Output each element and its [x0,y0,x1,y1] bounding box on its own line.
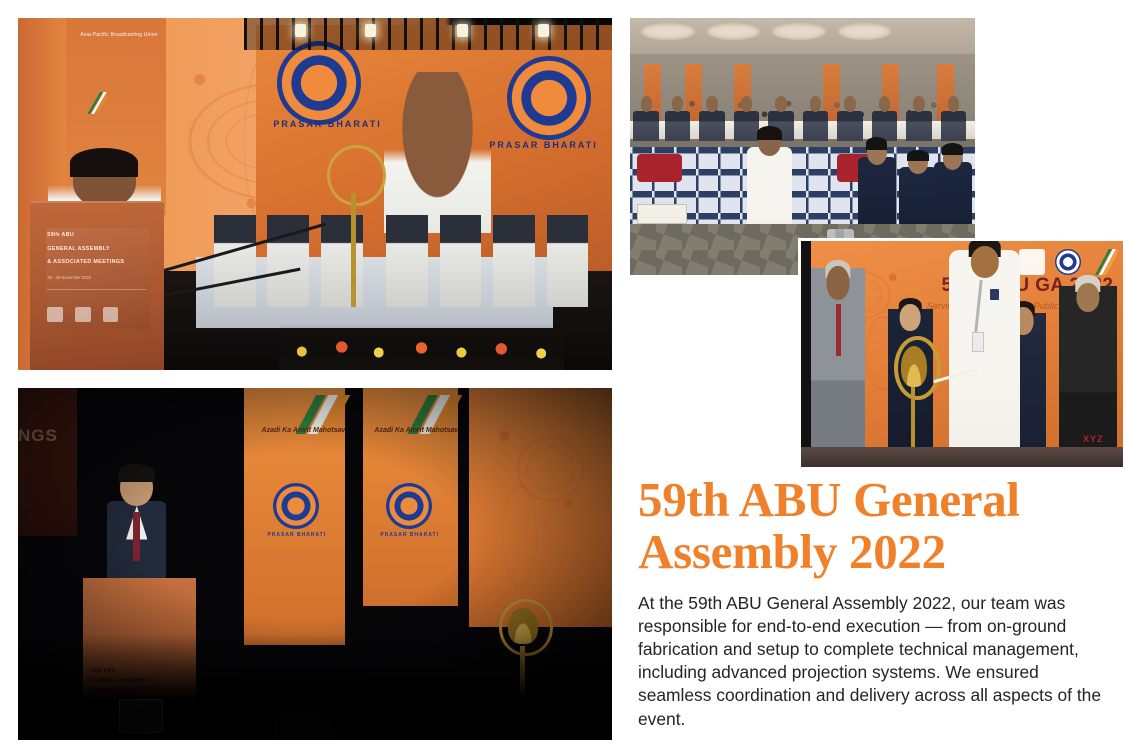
delegate [837,111,863,142]
delegate [633,111,659,142]
lamp-peacock-fan [901,346,927,387]
prasar-bharati-label: PRASAR BHARATI [489,140,597,150]
vignette-overlay [18,388,612,740]
delegate [803,111,829,142]
ceremonial-lamp [894,336,933,458]
photo-dark-auditorium: NGS Azadi Ka Amrit Mahotsav Azadi Ka Amr… [18,388,612,740]
chief-guest-lighting-lamp [949,250,1020,467]
delegate-hair [942,143,963,155]
chief-guest-head [970,246,998,279]
stage-light-icon [365,24,376,37]
prasar-bharati-logo-icon [1055,249,1081,275]
lamp-ring [327,145,386,206]
azadi-logo-icon [75,307,91,322]
floral-decoration [279,324,564,370]
panelist [493,215,535,307]
delegate [906,111,932,142]
podium: 59th ABU GENERAL ASSEMBLY & ASSOCIATED M… [30,201,164,370]
corner-watermark: XYZ [1083,434,1104,444]
podium-signage-line2: GENERAL ASSEMBLY [47,245,151,253]
ceiling-light-icon [771,23,826,40]
prasar-bharati-logo-icon [103,307,119,322]
dignitary-tie [836,304,841,356]
delegate [941,111,967,142]
ceiling [630,18,975,59]
page-title: 59th ABU General Assembly 2022 [638,474,1116,578]
dignitary-applauding-left [811,268,866,467]
lighting-truss [244,18,612,50]
delegate-hair [866,137,887,149]
ceiling-light-icon [837,23,892,40]
delegate [699,111,725,142]
stage-light-icon [457,24,468,37]
stage-light-icon [538,24,549,37]
delegate [665,111,691,142]
body-paragraph: At the 59th ABU General Assembly 2022, o… [638,592,1116,731]
podium-signage-date: 25 - 30 November 2022 [47,275,91,280]
speaker-on-screen [384,72,491,233]
azadi-logo-icon [1091,249,1117,275]
abu-logo-icon [47,307,63,322]
stage-light-icon [295,24,306,37]
ceremonial-lamp [327,145,380,307]
content-text-block: 59th ABU General Assembly 2022 At the 59… [638,474,1116,731]
photo-4-scene: 59th ABU GA 2022 Serving the People: Asi… [801,241,1123,467]
delegate [734,111,760,142]
prasar-bharati-logo-icon [507,56,591,140]
pocket-square [990,289,998,300]
dignitary-head [900,304,921,331]
photo-3-scene: NGS Azadi Ka Amrit Mahotsav Azadi Ka Amr… [18,388,612,740]
backdrop-edge [801,241,811,467]
podium-signage-line3: & ASSOCIATED MEETINGS [47,258,151,266]
stage-floor [801,447,1123,467]
abu-logo-icon [1019,249,1045,275]
podium-logo-row [47,302,146,326]
photo-2-scene [630,18,975,275]
photo-delegates-hall [630,18,975,275]
photo-lamp-lighting: 59th ABU GA 2022 Serving the People: Asi… [798,238,1123,467]
delegate-nameplate [637,204,687,224]
podium-signage-line1: 59th ABU [47,231,151,239]
photo-1-scene: Asia-Pacific Broadcasting Union PRASAR B… [18,18,612,370]
chief-guest-lanyard [975,280,983,332]
speaker-hair [70,148,138,177]
ceiling-light-icon [640,23,695,40]
photo-conference-speaker: Asia-Pacific Broadcasting Union PRASAR B… [18,18,612,370]
dignitary-head [1076,283,1099,312]
panelist [386,215,428,307]
red-cushion [637,154,682,182]
dignitary-head [827,266,850,300]
panelist [440,215,482,307]
dignitary-hair [757,126,782,141]
prasar-bharati-label: PRASAR BHARATI [273,119,381,129]
ceiling-light-icon [706,23,761,40]
chief-guest-badge [972,332,984,351]
azadi-ka-amrit-mahotsav-icon [83,92,107,114]
delegate-hair [907,150,928,161]
prasar-bharati-logo-icon [277,41,361,125]
lamp-stem [351,193,355,306]
abu-banner-logo-text: Asia-Pacific Broadcasting Union [80,32,157,38]
podium-divider [47,289,146,290]
page-canvas: Asia-Pacific Broadcasting Union PRASAR B… [0,0,1129,751]
panelist [547,215,589,307]
panelist [214,215,256,307]
